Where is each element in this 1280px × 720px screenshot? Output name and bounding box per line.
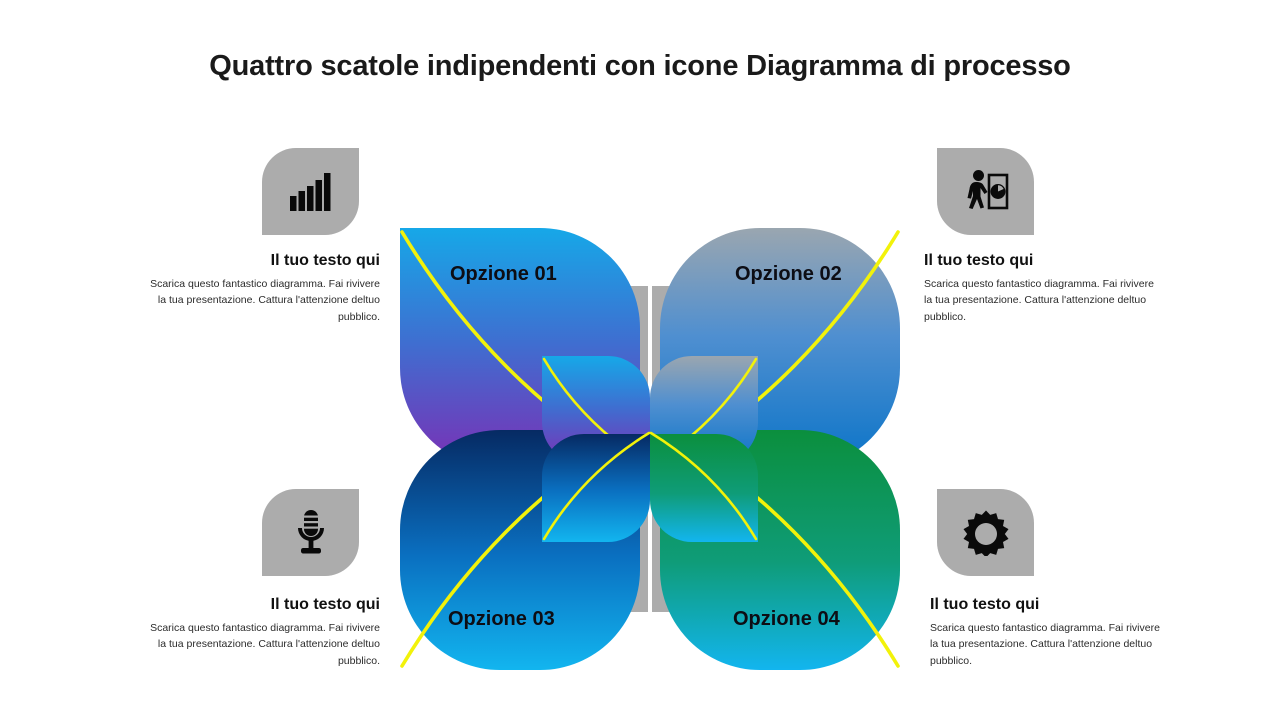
callout-heading: Il tuo testo qui <box>144 251 380 270</box>
petal-diagram-svg <box>390 218 910 680</box>
callout-text-top-right: Il tuo testo qui Scarica questo fantasti… <box>924 251 1160 325</box>
slide-canvas: Quattro scatole indipendenti con icone D… <box>0 0 1280 720</box>
microphone-icon <box>291 509 331 557</box>
gear-icon <box>963 510 1009 556</box>
callout-heading: Il tuo testo qui <box>924 251 1160 270</box>
icon-badge-top-right[interactable] <box>937 148 1034 235</box>
callout-heading: Il tuo testo qui <box>930 595 1166 614</box>
petal-inner-04 <box>650 433 758 542</box>
bar-chart-icon <box>289 172 333 212</box>
icon-badge-bottom-right[interactable] <box>937 489 1034 576</box>
petal-diagram: Opzione 01 Opzione 02 Opzione 03 Opzione… <box>390 218 910 680</box>
callout-body: Scarica questo fantastico diagramma. Fai… <box>930 620 1166 669</box>
callout-body: Scarica questo fantastico diagramma. Fai… <box>144 276 380 325</box>
callout-text-bottom-right: Il tuo testo qui Scarica questo fantasti… <box>930 595 1166 669</box>
callout-heading: Il tuo testo qui <box>144 595 380 614</box>
callout-text-top-left: Il tuo testo qui Scarica questo fantasti… <box>144 251 380 325</box>
page-title: Quattro scatole indipendenti con icone D… <box>0 50 1280 83</box>
petal-inner-03-shape <box>542 434 650 542</box>
callout-body: Scarica questo fantastico diagramma. Fai… <box>144 620 380 669</box>
person-time-clock-icon <box>962 169 1010 215</box>
icon-badge-bottom-left[interactable] <box>262 489 359 576</box>
callout-body: Scarica questo fantastico diagramma. Fai… <box>924 276 1160 325</box>
icon-badge-top-left[interactable] <box>262 148 359 235</box>
callout-text-bottom-left: Il tuo testo qui Scarica questo fantasti… <box>144 595 380 669</box>
petal-inner-03 <box>542 433 650 542</box>
petal-inner-04-shape <box>650 434 758 542</box>
